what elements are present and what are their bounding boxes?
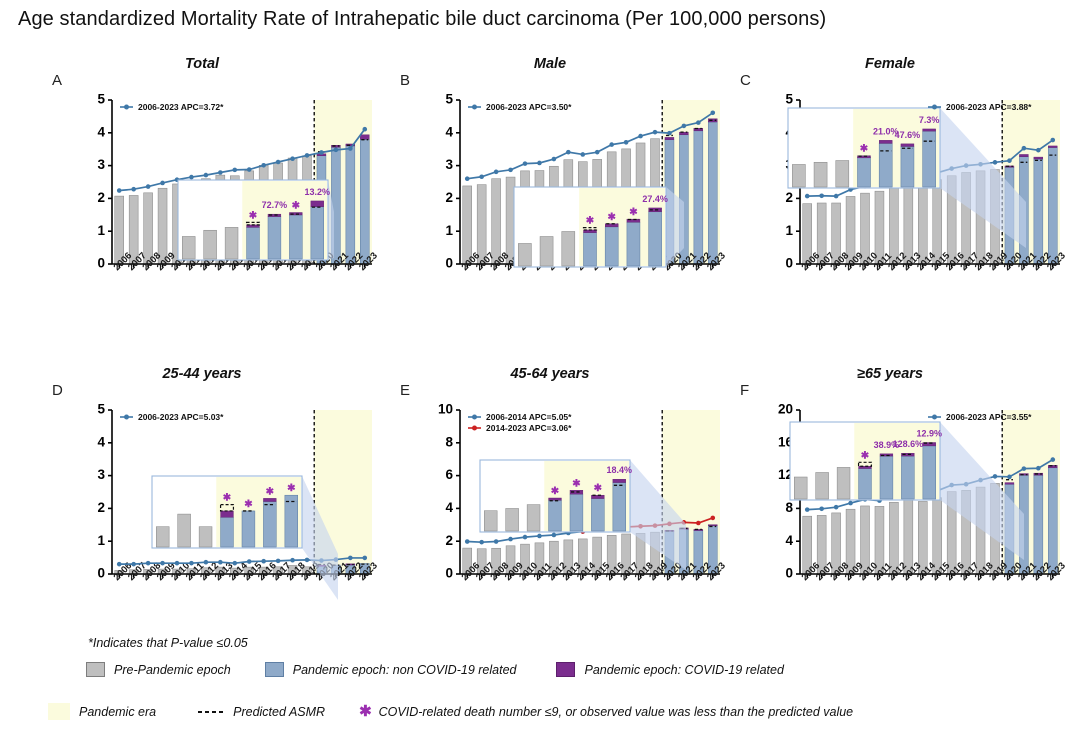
legend-label-covid-star: COVID-related death number ≤9, or observ… bbox=[379, 705, 853, 719]
svg-text:✱: ✱ bbox=[292, 200, 301, 211]
figure-legend: Pre-Pandemic epoch Pandemic epoch: non C… bbox=[0, 662, 1080, 720]
svg-text:13.2%: 13.2% bbox=[305, 187, 331, 197]
svg-text:✱: ✱ bbox=[629, 207, 638, 218]
svg-text:27.4%: 27.4% bbox=[642, 194, 668, 204]
plot-area-25-44: 0123452006200720082009201020112012201320… bbox=[86, 404, 376, 609]
svg-text:✱: ✱ bbox=[551, 486, 560, 497]
svg-text:20: 20 bbox=[778, 402, 793, 417]
asterisk-icon: ✱ bbox=[359, 704, 372, 719]
legend-item-pre-pandemic: Pre-Pandemic epoch bbox=[86, 662, 231, 677]
svg-text:4: 4 bbox=[785, 533, 793, 548]
legend-label-predicted-asmr: Predicted ASMR bbox=[233, 705, 325, 719]
svg-text:8: 8 bbox=[785, 500, 793, 515]
dashed-line-icon bbox=[198, 709, 224, 715]
svg-text:10: 10 bbox=[438, 402, 453, 417]
svg-text:✱: ✱ bbox=[266, 486, 275, 497]
panel-title-female: Female bbox=[740, 56, 1040, 72]
significance-footnote: *Indicates that P-value ≤0.05 bbox=[88, 636, 248, 650]
swatch-blue-icon bbox=[265, 662, 284, 677]
svg-text:✱: ✱ bbox=[244, 499, 253, 510]
svg-text:72.7%: 72.7% bbox=[262, 200, 288, 210]
svg-text:7.3%: 7.3% bbox=[919, 115, 940, 125]
legend-item-non-covid: Pandemic epoch: non COVID-19 related bbox=[265, 662, 517, 677]
legend-label-pandemic-era: Pandemic era bbox=[79, 705, 156, 719]
svg-text:6: 6 bbox=[445, 467, 453, 482]
svg-text:0: 0 bbox=[785, 256, 793, 271]
panel-title-25-44: 25-44 years bbox=[52, 366, 352, 382]
svg-text:1: 1 bbox=[445, 223, 453, 238]
panel-title-65plus: ≥65 years bbox=[740, 366, 1040, 382]
svg-text:1: 1 bbox=[97, 533, 105, 548]
legend-label-non-covid: Pandemic epoch: non COVID-19 related bbox=[293, 663, 517, 677]
panel-title-45-64: 45-64 years bbox=[400, 366, 700, 382]
panel-letter-a: A bbox=[52, 72, 62, 89]
svg-text:✱: ✱ bbox=[287, 483, 296, 494]
swatch-gray-icon bbox=[86, 662, 105, 677]
legend-item-predicted-asmr: Predicted ASMR bbox=[198, 705, 325, 719]
legend-item-covid: Pandemic epoch: COVID-19 related bbox=[556, 662, 783, 677]
svg-text:2: 2 bbox=[97, 190, 105, 205]
svg-text:5: 5 bbox=[445, 92, 453, 107]
svg-text:1: 1 bbox=[785, 223, 793, 238]
svg-text:✱: ✱ bbox=[249, 210, 258, 221]
svg-text:0: 0 bbox=[97, 566, 105, 581]
svg-text:3: 3 bbox=[97, 157, 105, 172]
swatch-era-icon bbox=[48, 703, 70, 720]
legend-row-2: Pandemic era Predicted ASMR ✱ COVID-rela… bbox=[0, 703, 1080, 720]
svg-text:✱: ✱ bbox=[586, 216, 595, 227]
svg-text:5: 5 bbox=[785, 92, 793, 107]
plot-area-65plus: 0481216202006200720082009201020112012201… bbox=[774, 404, 1064, 609]
panel-65plus: F ≥65 years 0481216202006200720082009201… bbox=[740, 382, 1040, 612]
svg-text:✱: ✱ bbox=[594, 483, 603, 494]
svg-text:✱: ✱ bbox=[223, 493, 232, 504]
panel-letter-f: F bbox=[740, 382, 749, 399]
svg-text:2006-2023 APC=3.55*: 2006-2023 APC=3.55* bbox=[946, 412, 1032, 422]
svg-text:2014-2023 APC=3.06*: 2014-2023 APC=3.06* bbox=[486, 423, 572, 433]
legend-item-pandemic-era: Pandemic era bbox=[48, 703, 156, 720]
svg-text:2: 2 bbox=[445, 533, 453, 548]
svg-text:0: 0 bbox=[785, 566, 793, 581]
panel-total: A Total 01234520062007200820092010201120… bbox=[52, 72, 352, 302]
figure-title: Age standardized Mortality Rate of Intra… bbox=[18, 8, 826, 31]
legend-item-covid-star: ✱ COVID-related death number ≤9, or obse… bbox=[359, 704, 853, 719]
svg-text:2006-2023 APC=5.03*: 2006-2023 APC=5.03* bbox=[138, 412, 224, 422]
plot-area-45-64: 0246810200620072008200920102011201220132… bbox=[434, 404, 724, 609]
panel-title-total: Total bbox=[52, 56, 352, 72]
svg-text:3: 3 bbox=[97, 467, 105, 482]
panel-letter-c: C bbox=[740, 72, 751, 89]
svg-text:2006-2023 APC=3.72*: 2006-2023 APC=3.72* bbox=[138, 102, 224, 112]
svg-text:4: 4 bbox=[445, 500, 453, 515]
svg-text:12.9%: 12.9% bbox=[917, 428, 943, 438]
svg-text:2006-2023 APC=3.88*: 2006-2023 APC=3.88* bbox=[946, 102, 1032, 112]
svg-text:2: 2 bbox=[97, 500, 105, 515]
svg-text:128.6%: 128.6% bbox=[893, 439, 924, 449]
svg-text:0: 0 bbox=[445, 566, 453, 581]
svg-text:0: 0 bbox=[97, 256, 105, 271]
panel-25-44: D 25-44 years 01234520062007200820092010… bbox=[52, 382, 352, 612]
svg-text:2006-2014 APC=5.05*: 2006-2014 APC=5.05* bbox=[486, 412, 572, 422]
panel-male: B Male 012345200620072008200920102011201… bbox=[400, 72, 700, 302]
svg-text:✱: ✱ bbox=[860, 144, 869, 155]
panel-female: C Female 0123452006200720082009201020112… bbox=[740, 72, 1040, 302]
svg-text:2: 2 bbox=[445, 190, 453, 205]
panel-45-64: E 45-64 years 02468102006200720082009201… bbox=[400, 382, 700, 612]
svg-text:18.4%: 18.4% bbox=[607, 465, 633, 475]
plot-area-male: 0123452006200720082009201020112012201320… bbox=[434, 94, 724, 299]
legend-label-covid: Pandemic epoch: COVID-19 related bbox=[584, 663, 783, 677]
svg-text:3: 3 bbox=[445, 157, 453, 172]
swatch-purple-icon bbox=[556, 662, 575, 677]
svg-text:8: 8 bbox=[445, 434, 453, 449]
legend-row-1: Pre-Pandemic epoch Pandemic epoch: non C… bbox=[0, 662, 1080, 677]
svg-text:✱: ✱ bbox=[572, 478, 581, 489]
legend-label-pre-pandemic: Pre-Pandemic epoch bbox=[114, 663, 231, 677]
svg-text:1: 1 bbox=[97, 223, 105, 238]
svg-text:5: 5 bbox=[97, 402, 105, 417]
plot-area-total: 0123452006200720082009201020112012201320… bbox=[86, 94, 376, 299]
panel-letter-d: D bbox=[52, 382, 63, 399]
svg-text:✱: ✱ bbox=[608, 212, 617, 223]
svg-text:4: 4 bbox=[97, 124, 105, 139]
svg-text:2: 2 bbox=[785, 190, 793, 205]
svg-text:✱: ✱ bbox=[861, 450, 870, 461]
svg-text:5: 5 bbox=[97, 92, 105, 107]
panel-letter-b: B bbox=[400, 72, 410, 89]
svg-text:4: 4 bbox=[97, 434, 105, 449]
panel-letter-e: E bbox=[400, 382, 410, 399]
svg-text:2006-2023 APC=3.50*: 2006-2023 APC=3.50* bbox=[486, 102, 572, 112]
svg-text:4: 4 bbox=[445, 124, 453, 139]
svg-text:47.6%: 47.6% bbox=[895, 130, 921, 140]
plot-area-female: 0123452006200720082009201020112012201320… bbox=[774, 94, 1064, 299]
svg-text:0: 0 bbox=[445, 256, 453, 271]
panel-title-male: Male bbox=[400, 56, 700, 72]
